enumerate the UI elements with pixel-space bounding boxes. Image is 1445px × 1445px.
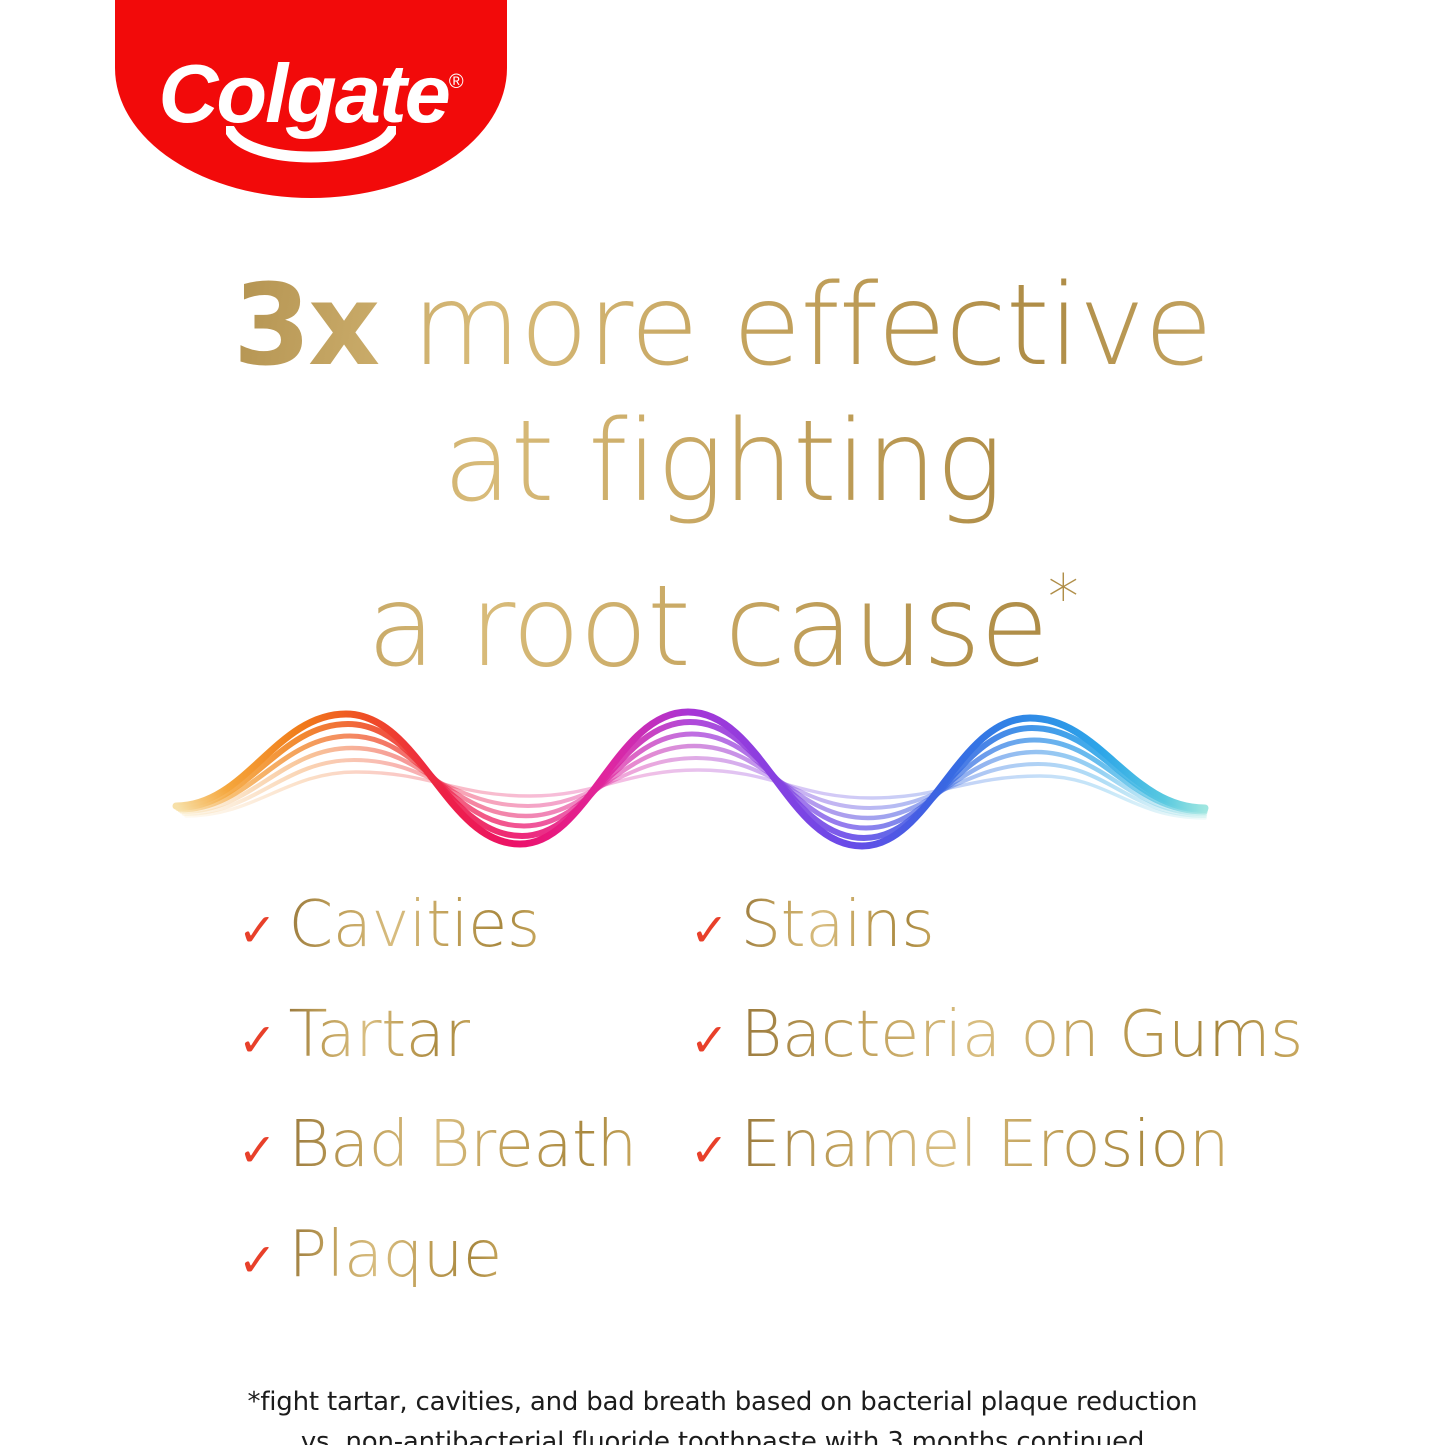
footnote-marker: * [1048,561,1078,634]
headline-line-3-text: a root cause [367,562,1048,692]
benefit-item-bad-breath: ✓ Bad Breath [238,1113,690,1177]
headline-line-1-rest: more effective [377,261,1212,391]
check-icon: ✓ [238,1127,277,1173]
benefit-item-stains: ✓ Stains [690,893,1330,957]
benefit-item-plaque: ✓ Plaque [238,1223,690,1287]
headline-emphasis: 3x [233,261,377,391]
benefit-row: ✓ Cavities ✓ Stains [238,893,1338,1003]
headline-line-1: 3x more effective [0,258,1445,394]
registered-trademark-icon: ® [449,71,464,93]
benefit-label: Stains [741,893,935,957]
logo-wordmark: Colgate® [115,52,507,135]
footnote-line-1: *fight tartar, cavities, and bad breath … [0,1382,1445,1422]
footnote: *fight tartar, cavities, and bad breath … [0,1382,1445,1445]
headline: 3x more effective at fighting a root cau… [0,258,1445,695]
footnote-line-2: vs. non-antibacterial fluoride toothpast… [0,1422,1445,1445]
benefit-label: Enamel Erosion [741,1113,1229,1177]
benefits-list: ✓ Cavities ✓ Stains ✓ Tartar ✓ Bacteria … [238,893,1338,1333]
benefit-row: ✓ Tartar ✓ Bacteria on Gums [238,1003,1338,1113]
benefit-label: Tartar [289,1003,471,1067]
advertisement-canvas: Colgate® 3x more effective at fighting a… [0,0,1445,1445]
benefit-item-bacteria-on-gums: ✓ Bacteria on Gums [690,1003,1330,1067]
check-icon: ✓ [690,907,729,953]
benefit-row: ✓ Plaque [238,1223,1338,1333]
benefit-label: Bad Breath [289,1113,637,1177]
benefit-row: ✓ Bad Breath ✓ Enamel Erosion [238,1113,1338,1223]
smile-curve-icon [226,126,396,172]
check-icon: ✓ [238,1237,277,1283]
check-icon: ✓ [690,1127,729,1173]
benefit-item-cavities: ✓ Cavities [238,893,690,957]
benefit-label: Cavities [289,893,540,957]
benefit-label: Plaque [289,1223,502,1287]
benefit-item-tartar: ✓ Tartar [238,1003,690,1067]
check-icon: ✓ [690,1017,729,1063]
colgate-logo: Colgate® [115,0,507,198]
headline-line-3: a root cause* [0,530,1445,695]
sound-wave-icon [168,698,1213,863]
check-icon: ✓ [238,907,277,953]
benefit-label: Bacteria on Gums [741,1003,1303,1067]
headline-line-2: at fighting [0,394,1445,530]
check-icon: ✓ [238,1017,277,1063]
benefit-item-enamel-erosion: ✓ Enamel Erosion [690,1113,1330,1177]
